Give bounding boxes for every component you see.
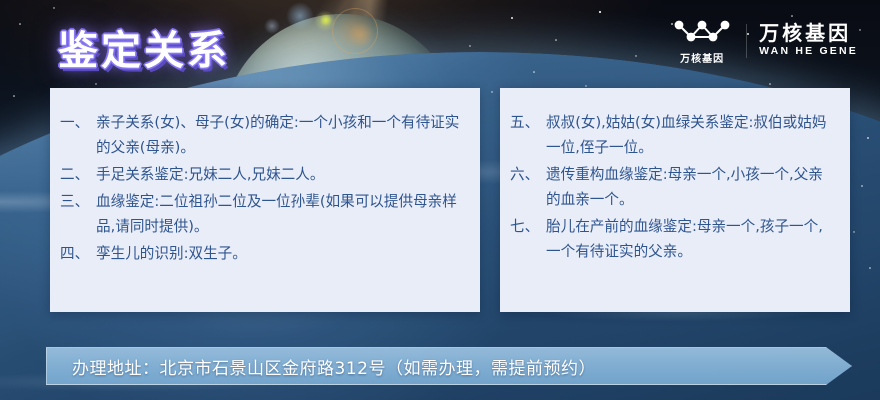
molecule-icon xyxy=(670,16,734,48)
list-item: 二、 手足关系鉴定:兄妹二人,兄妹二人。 xyxy=(60,162,466,187)
list-item-number: 五、 xyxy=(510,110,546,160)
brand-mark: 万核基因 xyxy=(670,16,734,65)
list-item-text: 胎儿在产前的血缘鉴定:母亲一个,孩子一个,一个有待证实的父亲。 xyxy=(546,214,836,264)
brand-logo: 万核基因 万核基因 WAN HE GENE xyxy=(670,16,858,65)
brand-name-en: WAN HE GENE xyxy=(759,46,858,57)
relationship-list-panel-right: 五、 叔叔(女),姑姑(女)血绿关系鉴定:叔伯或姑妈一位,侄子一位。 六、 遗传… xyxy=(500,88,850,312)
brand-divider xyxy=(746,24,747,58)
list-item-number: 六、 xyxy=(510,162,546,212)
poster-canvas: 鉴定关系 万核基因 xyxy=(0,0,880,400)
list-item-text: 手足关系鉴定:兄妹二人,兄妹二人。 xyxy=(96,162,466,187)
list-item: 四、 孪生儿的识别:双生子。 xyxy=(60,241,466,266)
list-item-number: 七、 xyxy=(510,214,546,264)
list-item-number: 四、 xyxy=(60,241,96,266)
list-item: 五、 叔叔(女),姑姑(女)血绿关系鉴定:叔伯或姑妈一位,侄子一位。 xyxy=(510,110,836,160)
list-item-number: 一、 xyxy=(60,110,96,160)
address-ribbon: 办理地址：北京市石景山区金府路312号（如需办理，需提前预约） xyxy=(46,347,852,385)
list-item: 七、 胎儿在产前的血缘鉴定:母亲一个,孩子一个,一个有待证实的父亲。 xyxy=(510,214,836,264)
list-item: 六、 遗传重构血缘鉴定:母亲一个,小孩一个,父亲的血亲一个。 xyxy=(510,162,836,212)
list-item-number: 三、 xyxy=(60,189,96,239)
page-title: 鉴定关系 xyxy=(58,18,230,76)
list-item: 一、 亲子关系(女)、母子(女)的确定:一个小孩和一个有待证实的父亲(母亲)。 xyxy=(60,110,466,160)
brand-mark-label: 万核基因 xyxy=(680,50,724,65)
list-item-text: 叔叔(女),姑姑(女)血绿关系鉴定:叔伯或姑妈一位,侄子一位。 xyxy=(546,110,836,160)
list-item-number: 二、 xyxy=(60,162,96,187)
list-item-text: 遗传重构血缘鉴定:母亲一个,小孩一个,父亲的血亲一个。 xyxy=(546,162,836,212)
list-item-text: 血缘鉴定:二位祖孙二位及一位孙辈(如果可以提供母亲样品,请同时提供)。 xyxy=(96,189,466,239)
address-text: 办理地址：北京市石景山区金府路312号（如需办理，需提前预约） xyxy=(72,347,596,385)
list-item-text: 孪生儿的识别:双生子。 xyxy=(96,241,466,266)
brand-name-cn: 万核基因 xyxy=(759,24,858,44)
relationship-list-panel-left: 一、 亲子关系(女)、母子(女)的确定:一个小孩和一个有待证实的父亲(母亲)。 … xyxy=(50,88,480,312)
list-item-text: 亲子关系(女)、母子(女)的确定:一个小孩和一个有待证实的父亲(母亲)。 xyxy=(96,110,466,160)
list-item: 三、 血缘鉴定:二位祖孙二位及一位孙辈(如果可以提供母亲样品,请同时提供)。 xyxy=(60,189,466,239)
brand-name-block: 万核基因 WAN HE GENE xyxy=(759,24,858,57)
